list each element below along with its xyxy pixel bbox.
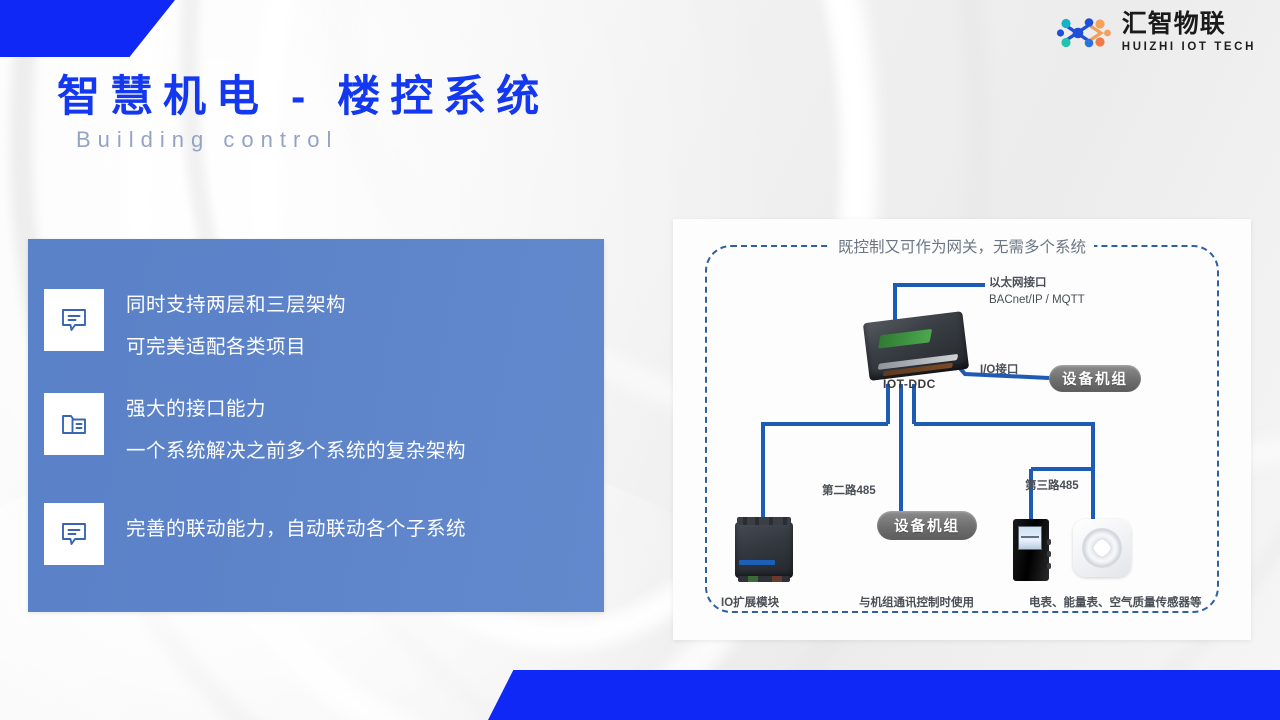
brand-logo: 汇智物联 HUIZHI IOT TECH (1055, 12, 1256, 54)
feature-lines-3: 完善的联动能力，自动联动各个子系统 (126, 503, 466, 539)
bottom-right-accent-bar (488, 670, 1280, 720)
meter-button (1047, 551, 1051, 557)
ethernet-port-title: 以太网接口 (989, 275, 1085, 292)
io-port-label: I/O接口 (980, 362, 1018, 379)
ethernet-protocols: BACnet/IP / MQTT (989, 292, 1085, 309)
io-module-top-terminals (737, 517, 791, 525)
chat-bubble-lines-icon (44, 503, 104, 565)
molecule-network-icon (1055, 13, 1113, 53)
bus-label-second-485: 第二路485 (822, 482, 876, 498)
slide-root: 智慧机电 - 楼控系统 Building control 汇智物联 HUI (0, 0, 1280, 720)
feature-line: 完善的联动能力，自动联动各个子系统 (126, 519, 466, 539)
caption-device-group: 与机组通讯控制时使用 (859, 594, 974, 610)
feature-line: 强大的接口能力 (126, 399, 466, 419)
logo-name-en: HUIZHI IOT TECH (1122, 42, 1256, 54)
ethernet-port-label: 以太网接口 BACnet/IP / MQTT (989, 275, 1085, 308)
sensor-core (1092, 538, 1112, 558)
diagram-caption: 既控制又可作为网关，无需多个系统 (830, 235, 1094, 257)
logo-text-block: 汇智物联 HUIZHI IOT TECH (1122, 12, 1256, 54)
iot-ddc-controller-photo (863, 311, 969, 381)
controller-label: IOT-DDC (883, 377, 936, 391)
bus-label-third-485: 第三路485 (1025, 477, 1079, 493)
logo-name-zh: 汇智物联 (1122, 12, 1256, 37)
feature-line: 可完美适配各类项目 (126, 337, 346, 357)
device-group-pill: 设备机组 (877, 511, 977, 540)
feature-line: 一个系统解决之前多个系统的复杂架构 (126, 441, 466, 461)
meter-display (1018, 526, 1042, 550)
caption-io-module: IO扩展模块 (721, 594, 779, 610)
electric-meter-photo (1013, 519, 1049, 581)
page-subtitle: Building control (76, 127, 338, 153)
architecture-diagram-card: 既控制又可作为网关，无需多个系统 (673, 219, 1251, 640)
chat-bubble-lines-icon (44, 289, 104, 351)
feature-item-3: 完善的联动能力，自动联动各个子系统 (44, 503, 466, 565)
feature-line: 同时支持两层和三层架构 (126, 295, 346, 315)
folder-document-icon (44, 393, 104, 455)
meter-button (1047, 563, 1051, 569)
page-title: 智慧机电 - 楼控系统 (57, 62, 549, 124)
meter-button (1047, 539, 1051, 545)
io-module-bottom-terminals (738, 576, 790, 582)
feature-lines-2: 强大的接口能力 一个系统解决之前多个系统的复杂架构 (126, 393, 466, 462)
feature-item-2: 强大的接口能力 一个系统解决之前多个系统的复杂架构 (44, 393, 466, 462)
feature-lines-1: 同时支持两层和三层架构 可完美适配各类项目 (126, 289, 346, 358)
device-group-pill: 设备机组 (1049, 365, 1141, 392)
air-quality-sensor-photo (1073, 519, 1131, 577)
io-module-blue-stripe (739, 560, 775, 565)
io-expansion-module-photo (735, 522, 793, 578)
feature-item-1: 同时支持两层和三层架构 可完美适配各类项目 (44, 289, 346, 358)
features-panel: 同时支持两层和三层架构 可完美适配各类项目 强大的接口能力 一个系统解决之前多个… (28, 239, 604, 612)
caption-meters-sensors: 电表、能量表、空气质量传感器等 (1029, 594, 1202, 610)
sensor-dial (1082, 528, 1122, 568)
